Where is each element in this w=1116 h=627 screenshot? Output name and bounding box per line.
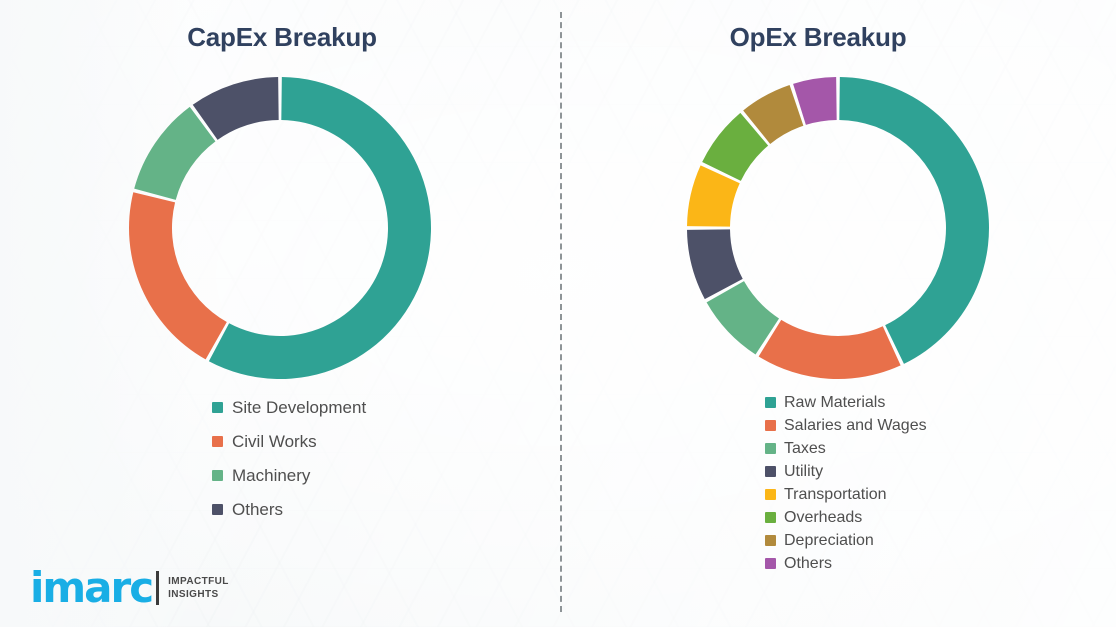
panel-divider (560, 12, 562, 612)
legend-item[interactable]: Salaries and Wages (765, 414, 927, 437)
legend-swatch-others (212, 504, 223, 515)
legend-label-civil-works: Civil Works (232, 433, 317, 450)
capex-chart-title: CapEx Breakup (2, 22, 562, 53)
legend-label-salaries-and-wages: Salaries and Wages (784, 418, 927, 434)
legend-label-raw-materials: Raw Materials (784, 395, 885, 411)
opex-legend: Raw Materials Salaries and Wages Taxes U… (765, 391, 927, 575)
legend-item[interactable]: Raw Materials (765, 391, 927, 414)
legend-swatch-utility (765, 466, 776, 477)
legend-label-others: Others (232, 501, 283, 518)
legend-item[interactable]: Others (212, 492, 366, 526)
logo-tagline: IMPACTFUL INSIGHTS (168, 575, 229, 601)
logo-separator-bar (156, 571, 159, 605)
legend-item[interactable]: Overheads (765, 506, 927, 529)
legend-label-others: Others (784, 556, 832, 572)
opex-donut-svg (685, 75, 991, 381)
legend-item[interactable]: Transportation (765, 483, 927, 506)
legend-swatch-site-development (212, 402, 223, 413)
legend-item[interactable]: Taxes (765, 437, 927, 460)
legend-item[interactable]: Site Development (212, 390, 366, 424)
donut-slice-machinery[interactable] (134, 107, 215, 200)
capex-panel: CapEx Breakup Site Development Civil Wor… (0, 0, 560, 627)
legend-swatch-depreciation (765, 535, 776, 546)
legend-swatch-raw-materials (765, 397, 776, 408)
legend-label-taxes: Taxes (784, 441, 826, 457)
legend-swatch-machinery (212, 470, 223, 481)
legend-swatch-salaries-and-wages (765, 420, 776, 431)
donut-slice-raw-materials[interactable] (839, 77, 989, 364)
legend-item[interactable]: Depreciation (765, 529, 927, 552)
legend-swatch-civil-works (212, 436, 223, 447)
opex-chart-title: OpEx Breakup (540, 22, 1096, 53)
imarc-logo: imarc IMPACTFUL INSIGHTS (30, 567, 229, 609)
legend-swatch-taxes (765, 443, 776, 454)
legend-item[interactable]: Others (765, 552, 927, 575)
legend-label-transportation: Transportation (784, 487, 887, 503)
legend-item[interactable]: Machinery (212, 458, 366, 492)
legend-label-overheads: Overheads (784, 510, 862, 526)
opex-donut-chart (685, 75, 991, 381)
legend-swatch-others (765, 558, 776, 569)
logo-wordmark: imarc (30, 567, 152, 609)
legend-swatch-overheads (765, 512, 776, 523)
legend-label-site-development: Site Development (232, 399, 366, 416)
capex-legend: Site Development Civil Works Machinery O… (212, 390, 366, 526)
legend-item[interactable]: Civil Works (212, 424, 366, 458)
capex-donut-chart (127, 75, 433, 381)
legend-label-depreciation: Depreciation (784, 533, 874, 549)
donut-slice-salaries-and-wages[interactable] (759, 320, 901, 379)
donut-slice-civil-works[interactable] (129, 192, 227, 359)
logo-tagline-line1: IMPACTFUL (168, 576, 229, 587)
legend-label-utility: Utility (784, 464, 823, 480)
logo-tagline-line2: INSIGHTS (168, 589, 218, 600)
legend-item[interactable]: Utility (765, 460, 927, 483)
legend-label-machinery: Machinery (232, 467, 310, 484)
legend-swatch-transportation (765, 489, 776, 500)
capex-donut-svg (127, 75, 433, 381)
slide-canvas: CapEx Breakup Site Development Civil Wor… (0, 0, 1116, 627)
